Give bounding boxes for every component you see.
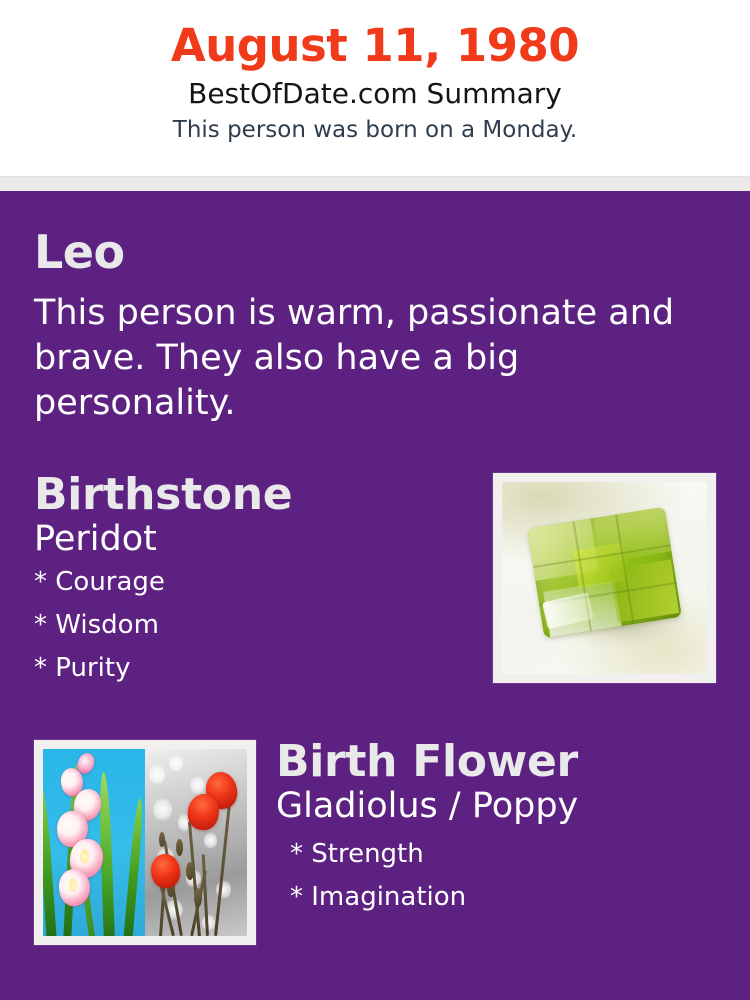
zodiac-section: Leo This person is warm, passionate and … [34, 229, 716, 425]
poppy-photo-half [145, 749, 247, 936]
birthflower-heading: Birth Flower [276, 740, 716, 785]
gem-crystal [527, 507, 682, 639]
zodiac-description: This person is warm, passionate and brav… [34, 291, 694, 425]
gladiolus-photo-half [43, 749, 145, 936]
bokeh-light [153, 798, 171, 820]
details-panel: Leo This person is warm, passionate and … [0, 191, 750, 1000]
birthstone-text-block: Birthstone Peridot * Courage * Wisdom * … [34, 473, 493, 698]
list-item: * Courage [34, 569, 493, 595]
site-summary-label: BestOfDate.com Summary [188, 79, 562, 110]
birthstone-image-frame [493, 473, 716, 683]
birthflower-image-frame [34, 740, 256, 945]
bokeh-light [190, 776, 205, 795]
leaf-blade [123, 798, 145, 936]
birthflower-name: Gladiolus / Poppy [276, 787, 716, 826]
birthstone-heading: Birthstone [34, 473, 493, 518]
list-item: * Imagination [290, 884, 716, 910]
gladiolus-poppy-image [43, 749, 247, 936]
poppy-bud [176, 839, 183, 856]
zodiac-sign-name: Leo [34, 229, 716, 275]
poppy-bud [186, 862, 194, 881]
bokeh-light [149, 764, 165, 785]
birthstone-section: Birthstone Peridot * Courage * Wisdom * … [34, 473, 716, 698]
page-title: August 11, 1980 [171, 22, 579, 69]
bokeh-light [169, 755, 182, 772]
list-item: * Strength [290, 841, 716, 867]
bokeh-light [204, 832, 217, 849]
header-divider [0, 176, 750, 191]
bloom-center [69, 878, 77, 891]
leaf-blade [43, 783, 57, 936]
birthstone-name: Peridot [34, 520, 493, 559]
peridot-gemstone-image [502, 482, 707, 674]
birthstone-trait-list: * Courage * Wisdom * Purity [34, 569, 493, 681]
summary-card: August 11, 1980 BestOfDate.com Summary T… [0, 0, 750, 1000]
birthflower-text-block: Birth Flower Gladiolus / Poppy * Strengt… [256, 740, 716, 926]
list-item: * Wisdom [34, 612, 493, 638]
birthflower-section: Birth Flower Gladiolus / Poppy * Strengt… [34, 740, 716, 945]
list-item: * Purity [34, 655, 493, 681]
birthflower-trait-list: * Strength * Imagination [276, 841, 716, 910]
born-day-line: This person was born on a Monday. [173, 118, 577, 143]
poppy-bud [194, 888, 202, 907]
card-header: August 11, 1980 BestOfDate.com Summary T… [0, 0, 750, 176]
bloom-center [80, 849, 89, 864]
poppy-bloom [149, 853, 181, 889]
